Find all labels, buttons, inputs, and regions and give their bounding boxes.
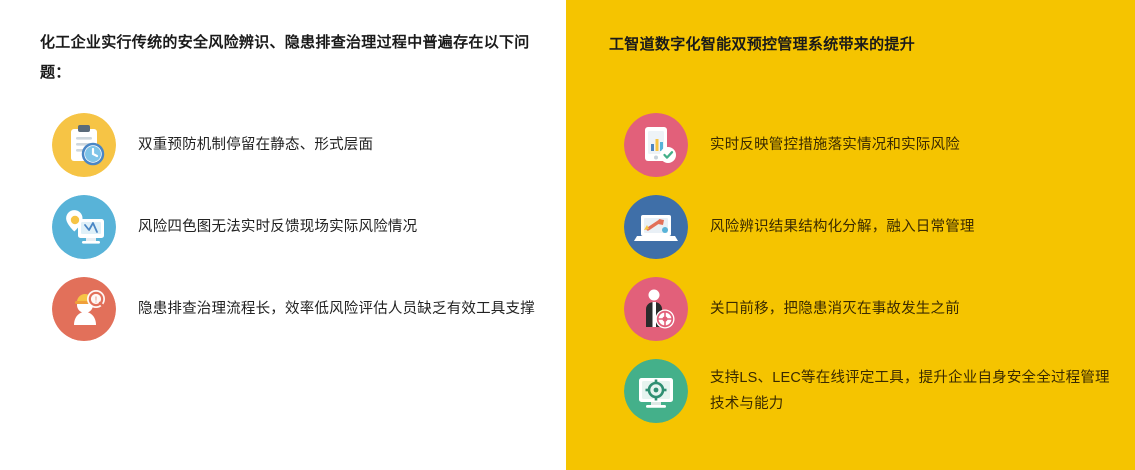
list-item-label: 风险辨识结果结构化分解，融入日常管理 bbox=[710, 214, 975, 240]
tablet-chart-icon bbox=[624, 113, 688, 177]
list-item-label: 实时反映管控措施落实情况和实际风险 bbox=[710, 132, 960, 158]
list-item-label: 支持LS、LEC等在线评定工具，提升企业自身安全全过程管理技术与能力 bbox=[710, 365, 1124, 417]
list-item: ! 隐患排查治理流程长，效率低风险评估人员缺乏有效工具支撑 bbox=[52, 277, 552, 341]
left-items-list: 双重预防机制停留在静态、形式层面 风险四色图无法实时反馈现场实际风 bbox=[52, 113, 552, 359]
list-item: 风险四色图无法实时反馈现场实际风险情况 bbox=[52, 195, 552, 259]
list-item: 支持LS、LEC等在线评定工具，提升企业自身安全全过程管理技术与能力 bbox=[624, 359, 1124, 423]
list-item: 实时反映管控措施落实情况和实际风险 bbox=[624, 113, 1124, 177]
list-item-label: 风险四色图无法实时反馈现场实际风险情况 bbox=[138, 214, 417, 240]
right-items-list: 实时反映管控措施落实情况和实际风险 风险辨识结果结构化分解，融入日 bbox=[624, 113, 1124, 441]
location-monitor-icon bbox=[52, 195, 116, 259]
right-panel-heading: 工智道数字化智能双预控管理系统带来的提升 bbox=[609, 33, 915, 54]
list-item: 风险辨识结果结构化分解，融入日常管理 bbox=[624, 195, 1124, 259]
list-item: 双重预防机制停留在静态、形式层面 bbox=[52, 113, 552, 177]
list-item-label: 隐患排查治理流程长，效率低风险评估人员缺乏有效工具支撑 bbox=[138, 296, 535, 322]
laptop-tools-icon bbox=[624, 195, 688, 259]
list-item-label: 关口前移，把隐患消灭在事故发生之前 bbox=[710, 296, 960, 322]
right-panel: 工智道数字化智能双预控管理系统带来的提升 bbox=[566, 0, 1135, 470]
svg-text:!: ! bbox=[95, 296, 97, 305]
list-item: 关口前移，把隐患消灭在事故发生之前 bbox=[624, 277, 1124, 341]
comparison-diagram: 化工企业实行传统的安全风险辨识、隐患排查治理过程中普遍存在以下问题： bbox=[0, 0, 1135, 470]
left-panel-heading: 化工企业实行传统的安全风险辨识、隐患排查治理过程中普遍存在以下问题： bbox=[40, 28, 530, 88]
alarm-worker-icon: ! bbox=[52, 277, 116, 341]
worker-shield-icon bbox=[624, 277, 688, 341]
list-item-label: 双重预防机制停留在静态、形式层面 bbox=[138, 132, 373, 158]
monitor-gear-icon bbox=[624, 359, 688, 423]
clipboard-clock-icon bbox=[52, 113, 116, 177]
left-panel: 化工企业实行传统的安全风险辨识、隐患排查治理过程中普遍存在以下问题： bbox=[0, 0, 566, 470]
